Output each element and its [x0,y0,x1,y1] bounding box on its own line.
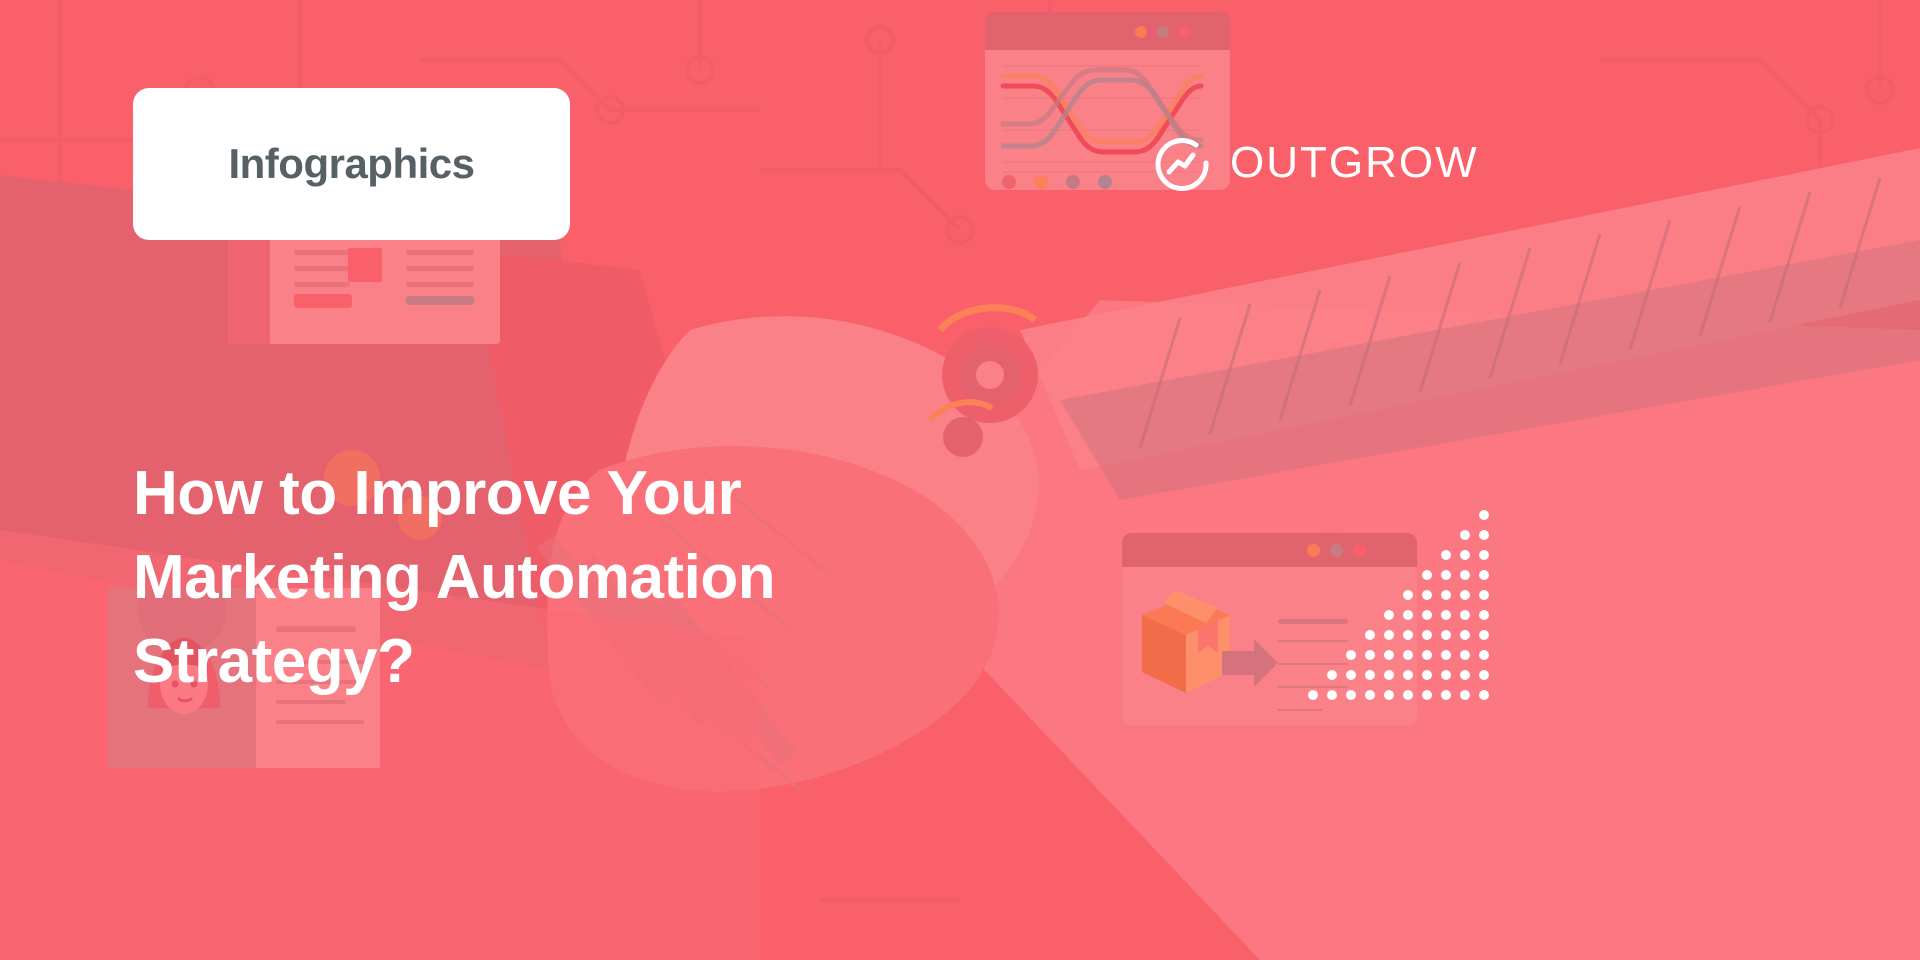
dot-grid-triangle [1292,505,1502,715]
traffic-light-dot [1135,26,1147,38]
headline-line-2: Marketing Automation [133,536,953,620]
page-title: How to Improve Your Marketing Automation… [133,452,953,704]
traffic-light-dot [1179,26,1191,38]
article-card-thumbnail [348,248,382,282]
outgrow-logo[interactable]: OUTGROW [1152,133,1479,193]
headline-line-1: How to Improve Your [133,452,953,536]
browser-titlebar [985,12,1230,50]
article-card-accent-bar [294,294,352,308]
headline-line-3: Strategy? [133,620,953,704]
arrow-right-icon [1222,639,1278,687]
traffic-light-dot [1157,26,1169,38]
article-card-muted-bar [406,296,474,305]
package-box-icon [1142,590,1230,693]
article-card [228,224,500,344]
outgrow-circle-mark [1152,133,1212,193]
infographics-badge-label: Infographics [228,143,474,185]
article-card-text-lines-right [406,250,474,298]
banner-canvas: Infographics How to Improve Your Marketi… [0,0,1920,960]
article-card-text-lines-left [294,250,350,298]
article-card-sidebar [228,224,270,344]
outgrow-wordmark: OUTGROW [1230,141,1479,185]
chart-legend-dots [1002,175,1112,189]
infographics-badge: Infographics [133,88,570,240]
